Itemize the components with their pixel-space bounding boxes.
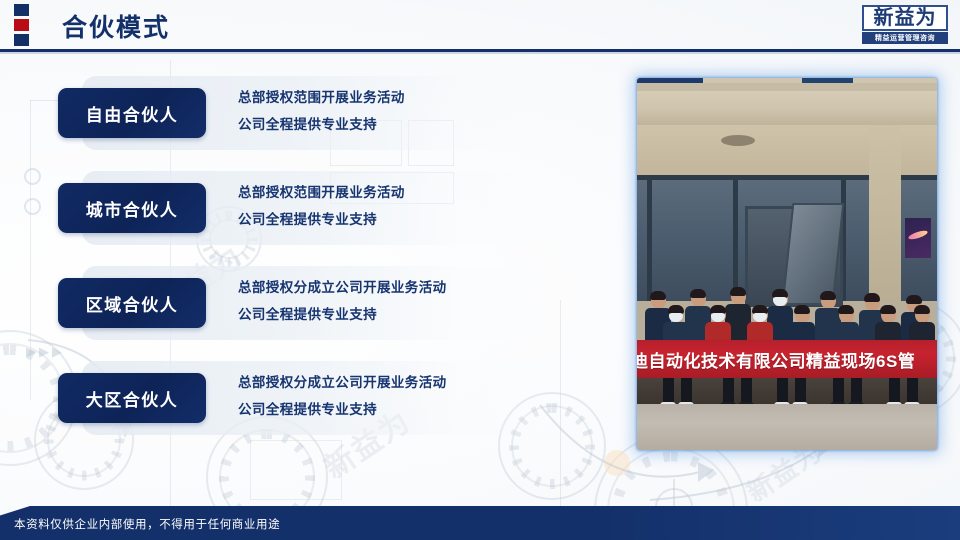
photo-leg xyxy=(723,378,734,404)
photo-leg xyxy=(777,378,788,404)
photo-leg xyxy=(889,378,900,404)
partner-badge[interactable]: 自由合伙人 xyxy=(58,88,206,138)
photo-person-head xyxy=(753,306,768,323)
photo-leg xyxy=(795,378,806,404)
partner-description-line: 总部授权范围开展业务活动 xyxy=(238,179,405,206)
photo-fascia-band xyxy=(637,83,937,91)
photo-person-head xyxy=(839,306,854,323)
header-marker xyxy=(14,4,29,46)
photo-person-head xyxy=(691,290,706,307)
header-divider-shadow xyxy=(0,52,960,54)
square-marker-icon xyxy=(14,34,29,46)
partner-row[interactable]: 区域合伙人 总部授权分成立公司开展业务活动 公司全程提供专业支持 xyxy=(0,262,640,357)
partner-badge[interactable]: 大区合伙人 xyxy=(58,373,206,423)
photo-wall-poster xyxy=(905,218,931,258)
partner-badge-label: 自由合伙人 xyxy=(86,101,179,126)
logo-tagline: 精益运营管理咨询 xyxy=(862,32,948,44)
photo-leg xyxy=(851,378,862,404)
xinyiwei-logo: 新益为 精益运营管理咨询 xyxy=(862,5,948,44)
photo-leg xyxy=(681,378,692,404)
photo-ceiling-vent xyxy=(721,135,755,146)
photo-person-head xyxy=(669,306,684,323)
photo-red-banner: 迪自动化技术有限公司精益现场6S管 xyxy=(637,340,937,378)
partner-row[interactable]: 城市合伙人 总部授权范围开展业务活动 公司全程提供专业支持 xyxy=(0,167,640,262)
partner-badge[interactable]: 区域合伙人 xyxy=(58,278,206,328)
photo-leg xyxy=(833,378,844,404)
slide-root: ▶▶▶ 新益为 新益为 新益为 新益为 合伙模式 新益为 精益运营管理咨询 xyxy=(0,0,960,540)
logo-brand: 新益为 xyxy=(862,5,948,31)
dot-accent xyxy=(604,450,630,476)
partner-description-line: 公司全程提供专业支持 xyxy=(238,301,447,328)
photo-person-head xyxy=(881,306,896,323)
partner-description: 总部授权分成立公司开展业务活动 公司全程提供专业支持 xyxy=(238,369,447,423)
photo-ground xyxy=(637,404,937,450)
photo-person-head xyxy=(731,288,746,305)
partner-badge-label: 大区合伙人 xyxy=(86,386,179,411)
partner-description-line: 总部授权分成立公司开展业务活动 xyxy=(238,369,447,396)
partner-description-line: 公司全程提供专业支持 xyxy=(238,396,447,423)
partner-badge-label: 区域合伙人 xyxy=(86,291,179,316)
square-marker-icon xyxy=(14,19,29,31)
partner-row[interactable]: 自由合伙人 总部授权范围开展业务活动 公司全程提供专业支持 xyxy=(0,72,640,167)
partner-badge[interactable]: 城市合伙人 xyxy=(58,183,206,233)
page-title: 合伙模式 xyxy=(62,8,170,44)
photo-steps xyxy=(637,378,937,404)
partner-description-line: 总部授权范围开展业务活动 xyxy=(238,84,405,111)
partner-description: 总部授权范围开展业务活动 公司全程提供专业支持 xyxy=(238,84,405,138)
partner-description: 总部授权范围开展业务活动 公司全程提供专业支持 xyxy=(238,179,405,233)
footer-disclaimer: 本资料仅供企业内部使用，不得用于任何商业用途 xyxy=(14,516,280,532)
photo-person-head xyxy=(795,306,810,323)
photo-person-head xyxy=(711,306,726,323)
partner-description-line: 总部授权分成立公司开展业务活动 xyxy=(238,274,447,301)
photo-person-head xyxy=(773,290,788,307)
photo-person-head xyxy=(915,306,930,323)
photo-leg xyxy=(663,378,674,404)
photo-leg xyxy=(741,378,752,404)
group-photo: 迪自动化技术有限公司精益现场6S管 xyxy=(637,78,937,450)
photo-banner-text: 迪自动化技术有限公司精益现场6S管 xyxy=(637,347,915,372)
partner-description-line: 公司全程提供专业支持 xyxy=(238,206,405,233)
partner-row[interactable]: 大区合伙人 总部授权分成立公司开展业务活动 公司全程提供专业支持 xyxy=(0,357,640,452)
partner-description-line: 公司全程提供专业支持 xyxy=(238,111,405,138)
partner-list: 自由合伙人 总部授权范围开展业务活动 公司全程提供专业支持 城市合伙人 总部授权… xyxy=(0,72,640,452)
partner-badge-label: 城市合伙人 xyxy=(86,196,179,221)
photo-leg xyxy=(907,378,918,404)
photo-fascia xyxy=(637,83,937,125)
partner-description: 总部授权分成立公司开展业务活动 公司全程提供专业支持 xyxy=(238,274,447,328)
square-marker-icon xyxy=(14,4,29,16)
